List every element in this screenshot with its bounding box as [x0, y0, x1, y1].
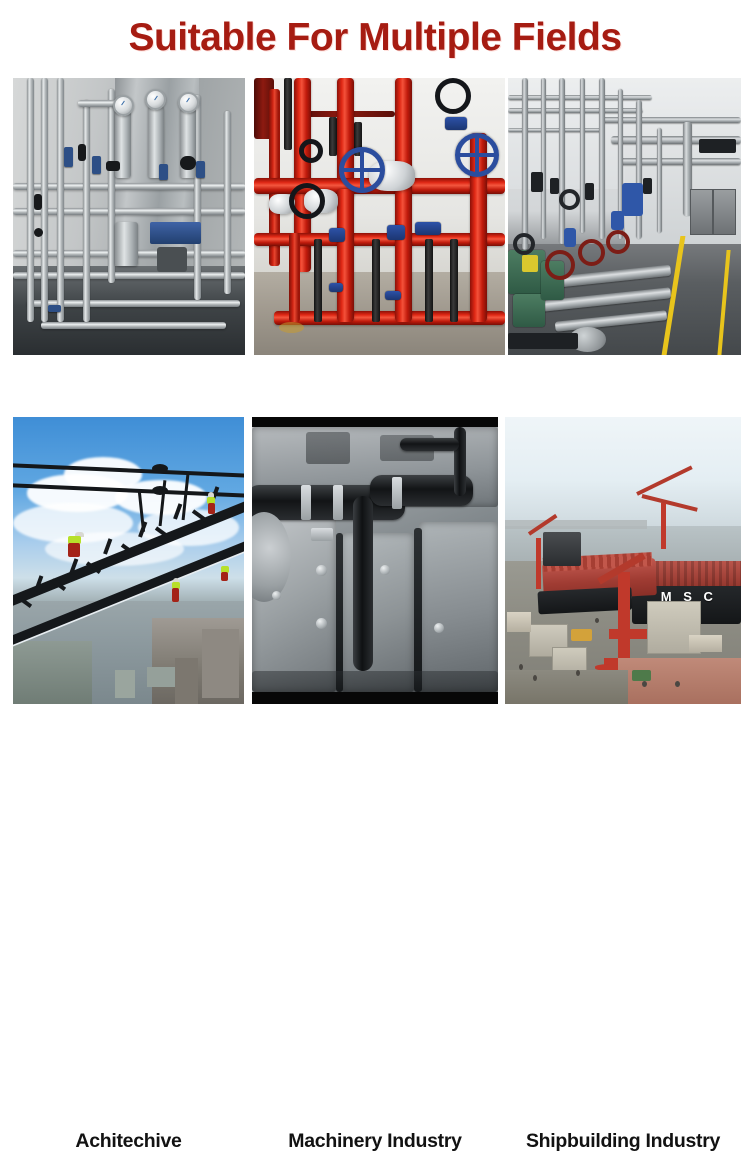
photo-achitechive	[13, 417, 244, 704]
photo-chemical-pipeline	[13, 78, 245, 355]
grid-cell-machinery-industry[interactable]: Machinery Industry	[252, 417, 498, 704]
grid-cell-heating-system[interactable]: Heating System	[508, 78, 741, 355]
caption-achitechive: Achitechive	[0, 1130, 264, 1153]
grid-cell-chemical-pipeline[interactable]: Chemical Pipeline	[13, 78, 245, 355]
grid-cell-shipbuilding-industry[interactable]: M S C	[505, 417, 741, 704]
caption-shipbuilding-industry: Shipbuilding Industry	[485, 1130, 750, 1153]
grid-cell-achitechive[interactable]: Achitechive	[13, 417, 244, 704]
caption-machinery-industry: Machinery Industry	[232, 1130, 518, 1153]
photo-heating-system	[508, 78, 741, 355]
image-grid: Chemical Pipeline	[0, 0, 750, 750]
infographic-page: Suitable For Multiple Fields	[0, 0, 750, 750]
photo-machinery-industry	[252, 417, 498, 704]
photo-fire-engineering	[254, 78, 505, 355]
photo-shipbuilding-industry: M S C	[505, 417, 741, 704]
grid-cell-fire-engineering[interactable]: Fire Engineering	[254, 78, 505, 355]
